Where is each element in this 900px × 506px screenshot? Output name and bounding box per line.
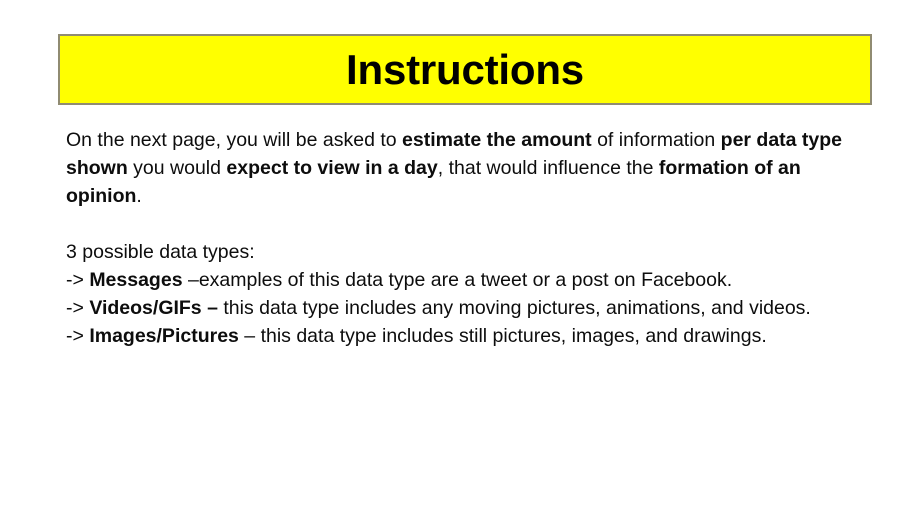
list-item-marker: -> — [66, 269, 89, 291]
list-item-term: Images/Pictures — [89, 325, 239, 347]
list-item-separator: – — [202, 297, 224, 319]
paragraph-run-9: . — [136, 185, 141, 207]
paragraph-spacer — [66, 210, 866, 238]
paragraph-run-5: you would — [128, 157, 227, 179]
paragraph-run-6-bold: expect to view in a day — [226, 157, 437, 179]
intro-paragraph: On the next page, you will be asked to e… — [66, 126, 866, 210]
list-item: -> Images/Pictures – this data type incl… — [66, 322, 866, 350]
list-item-marker: -> — [66, 325, 89, 347]
list-item-separator: – — [183, 269, 199, 291]
slide-body: On the next page, you will be asked to e… — [66, 126, 866, 350]
list-intro: 3 possible data types: — [66, 238, 866, 266]
list-item-term: Videos/GIFs — [89, 297, 201, 319]
list-item-description: this data type includes any moving pictu… — [223, 297, 811, 319]
list-item-marker: -> — [66, 297, 89, 319]
slide-canvas: Instructions On the next page, you will … — [0, 0, 900, 506]
paragraph-run-1: On the next page, you will be asked to — [66, 129, 402, 151]
list-item-description: this data type includes still pictures, … — [261, 325, 767, 347]
list-item-separator: – — [239, 325, 261, 347]
list-item: -> Messages –examples of this data type … — [66, 266, 866, 294]
paragraph-run-3: of information — [592, 129, 721, 151]
title-banner: Instructions — [58, 34, 872, 105]
list-item-description: examples of this data type are a tweet o… — [199, 269, 732, 291]
list-item-term: Messages — [89, 269, 182, 291]
list-item: -> Videos/GIFs – this data type includes… — [66, 294, 866, 322]
page-title: Instructions — [346, 49, 584, 91]
paragraph-run-2-bold: estimate the amount — [402, 129, 592, 151]
paragraph-run-7: , that would influence the — [438, 157, 659, 179]
